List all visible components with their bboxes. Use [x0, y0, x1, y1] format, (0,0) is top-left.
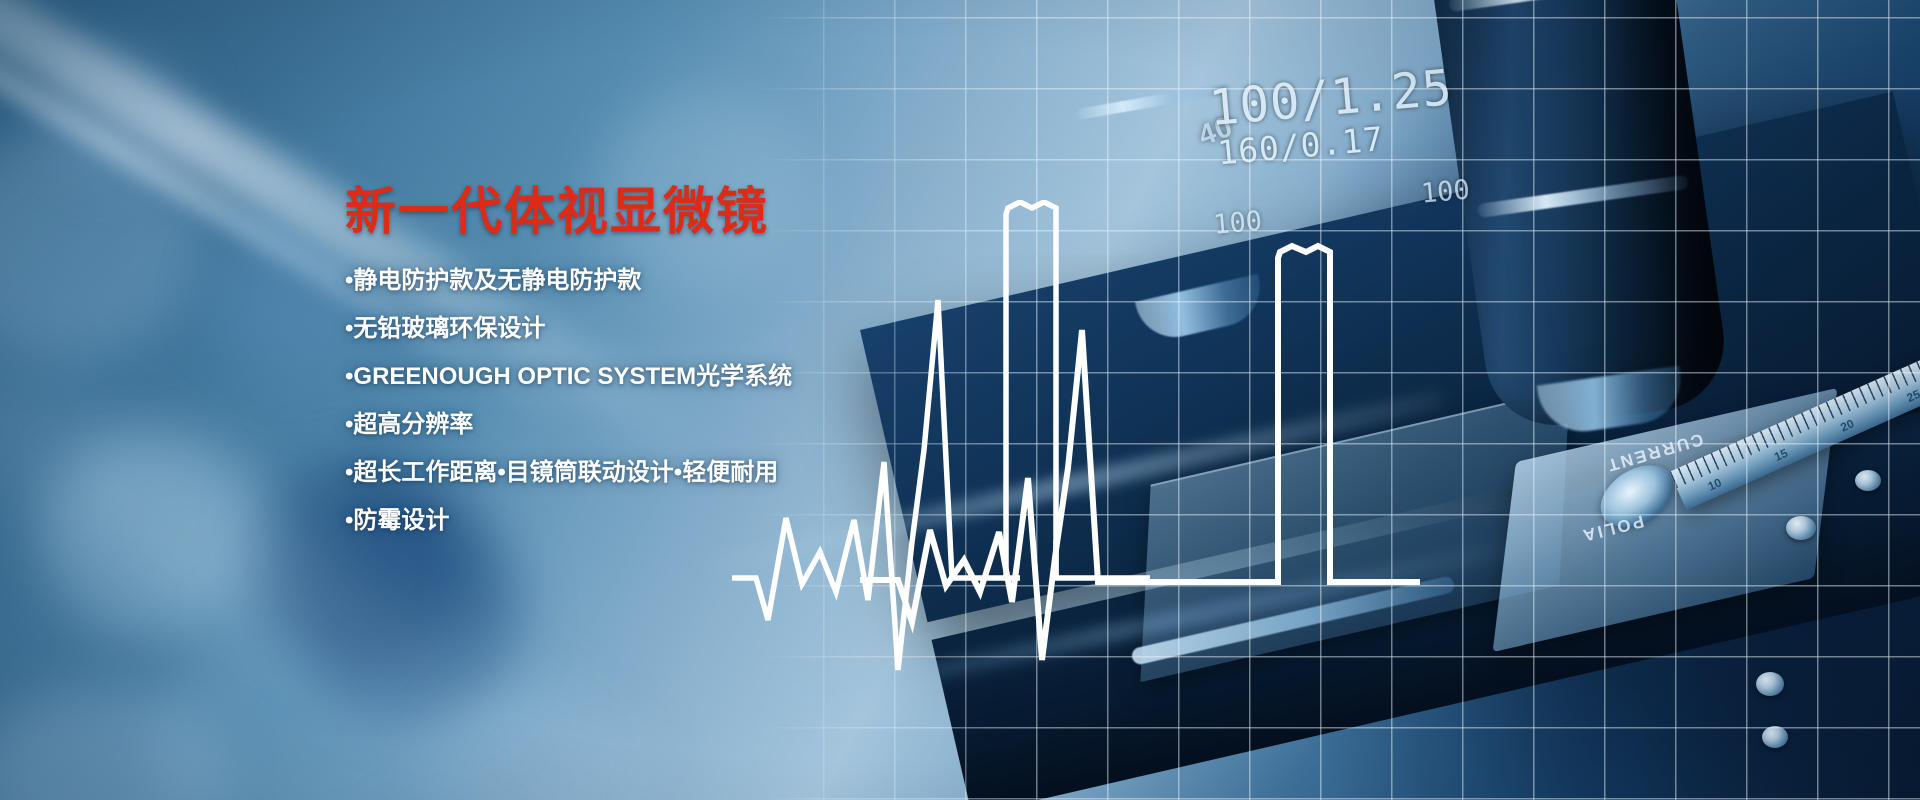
list-item: •超长工作距离•目镜筒联动设计•轻便耐用	[345, 461, 985, 485]
product-banner: CURRENT POLIA 10 15 20 25 40	[0, 0, 1920, 800]
list-item: •超高分辨率	[345, 413, 985, 437]
list-item: •GREENOUGH OPTIC SYSTEM光学系统	[345, 365, 985, 389]
waveform-pulse-outline	[1006, 202, 1056, 578]
banner-content: 新一代体视显微镜 •静电防护款及无静电防护款 •无铅玻璃环保设计 •GREENO…	[345, 185, 985, 533]
feature-list: •静电防护款及无静电防护款 •无铅玻璃环保设计 •GREENOUGH OPTIC…	[345, 269, 985, 533]
waveform-right-step	[1056, 540, 1150, 578]
page-title: 新一代体视显微镜	[345, 185, 985, 239]
list-item: •静电防护款及无静电防护款	[345, 269, 985, 293]
list-item: •防霉设计	[345, 509, 985, 533]
list-item: •无铅玻璃环保设计	[345, 317, 985, 341]
